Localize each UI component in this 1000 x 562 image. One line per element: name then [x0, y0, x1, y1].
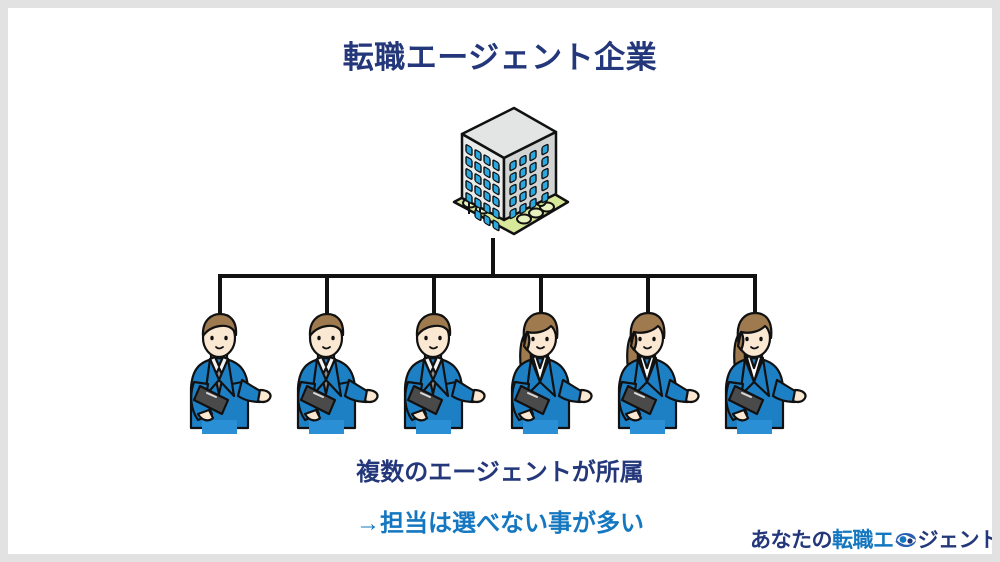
- business-person-female-icon: [604, 308, 700, 440]
- agent-node-4: [497, 308, 593, 440]
- logo-text-part1: あなたの: [750, 524, 832, 554]
- agent-node-3: [390, 308, 486, 440]
- business-person-male-icon: [390, 308, 486, 440]
- brand-logo: あなたの転職エジェント: [750, 524, 992, 554]
- agents-row: [8, 308, 992, 440]
- business-person-female-icon: [711, 308, 807, 440]
- agent-node-6: [711, 308, 807, 440]
- business-person-male-icon: [283, 308, 379, 440]
- business-person-male-icon: [176, 308, 272, 440]
- agent-node-1: [176, 308, 272, 440]
- page-title: 転職エージェント企業: [8, 32, 992, 77]
- office-building-node: [428, 106, 588, 246]
- caption-line-1: 複数のエージェントが所属: [8, 452, 992, 487]
- agent-node-2: [283, 308, 379, 440]
- logo-emblem-icon: [895, 529, 917, 551]
- business-person-female-icon: [497, 308, 593, 440]
- logo-text-part3: ジェント: [918, 524, 993, 554]
- slide-canvas: 転職エージェント企業: [8, 8, 992, 554]
- logo-text-part2: 転職エ: [832, 524, 894, 554]
- office-building-icon: [428, 106, 588, 246]
- slide-frame: 転職エージェント企業: [0, 0, 1000, 562]
- agent-node-5: [604, 308, 700, 440]
